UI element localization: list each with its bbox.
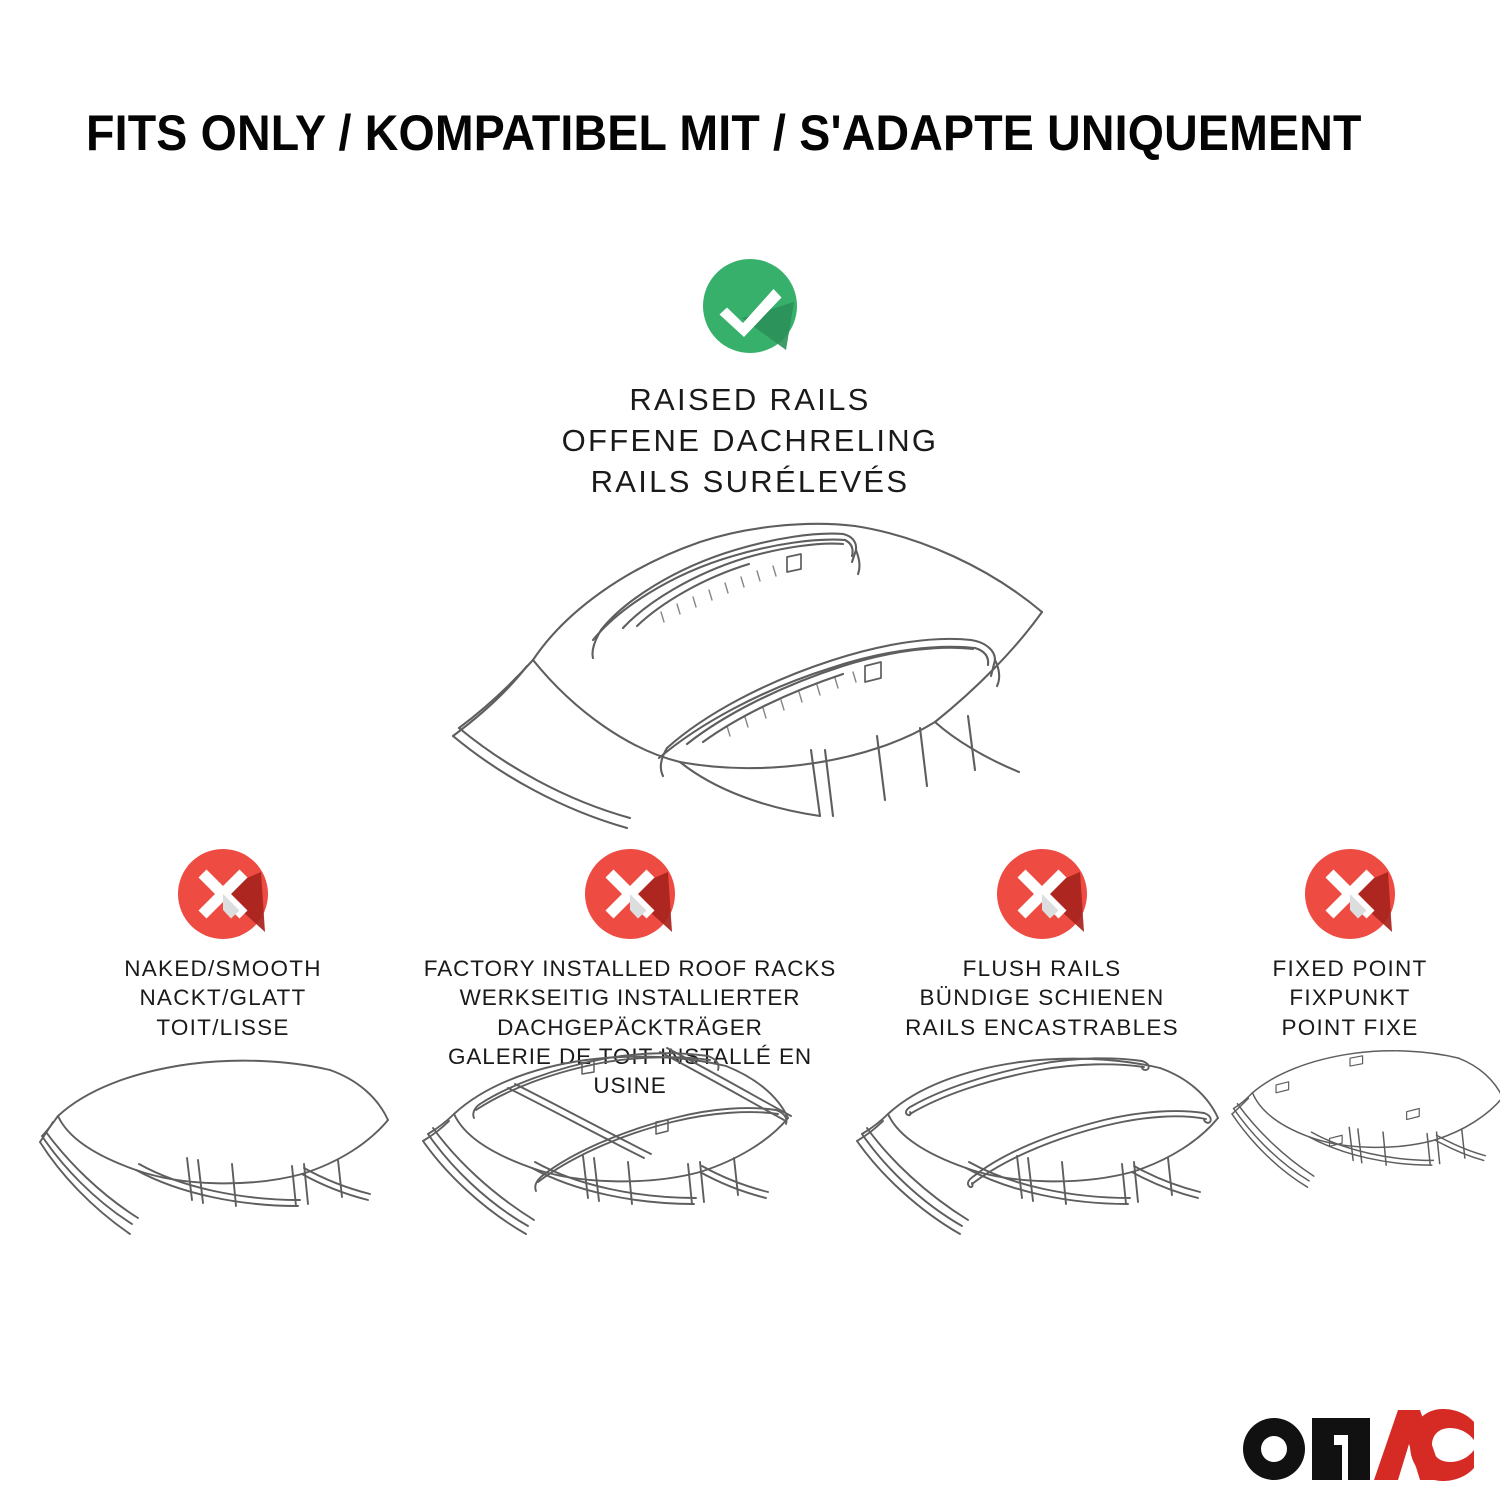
rejected-label-en: FLUSH RAILS bbox=[905, 954, 1179, 983]
omac-logo bbox=[1238, 1408, 1474, 1482]
x-circle-icon bbox=[584, 848, 676, 940]
rejected-labels: FLUSH RAILS BÜNDIGE SCHIENEN RAILS ENCAS… bbox=[905, 954, 1179, 1042]
rejected-item-flush-rails: FLUSH RAILS BÜNDIGE SCHIENEN RAILS ENCAS… bbox=[856, 848, 1228, 1042]
car-roof-naked-smooth-illustration bbox=[40, 1054, 406, 1284]
rejected-section: NAKED/SMOOTH NACKT/GLATT TOIT/LISSE bbox=[0, 848, 1500, 1498]
rejected-labels: FIXED POINT FIXPUNKT POINT FIXE bbox=[1272, 954, 1427, 1042]
x-circle-icon bbox=[177, 848, 269, 940]
car-roof-factory-roof-rack-illustration bbox=[412, 1036, 848, 1286]
logo-letter-m bbox=[1312, 1418, 1370, 1480]
rejected-label-en: NAKED/SMOOTH bbox=[124, 954, 322, 983]
check-circle-icon bbox=[702, 258, 798, 354]
x-circle-icon bbox=[1304, 848, 1396, 940]
rejected-item-naked-smooth: NAKED/SMOOTH NACKT/GLATT TOIT/LISSE bbox=[40, 848, 406, 1042]
logo-letter-o bbox=[1243, 1418, 1305, 1480]
approved-label-de: OFFENE DACHRELING bbox=[562, 421, 939, 462]
approved-label-en: RAISED RAILS bbox=[562, 380, 939, 421]
logo-letter-c bbox=[1410, 1409, 1474, 1481]
page-title: FITS ONLY / KOMPATIBEL MIT / S'ADAPTE UN… bbox=[86, 108, 1332, 158]
rejected-label-de: BÜNDIGE SCHIENEN bbox=[905, 983, 1179, 1012]
rejected-label-de-1: WERKSEITIG INSTALLIERTER bbox=[412, 983, 848, 1012]
rejected-label-en: FIXED POINT bbox=[1272, 954, 1427, 983]
approved-labels: RAISED RAILS OFFENE DACHRELING RAILS SUR… bbox=[562, 380, 939, 503]
rejected-label-de: FIXPUNKT bbox=[1272, 983, 1427, 1012]
rejected-label-de: NACKT/GLATT bbox=[124, 983, 322, 1012]
car-roof-flush-rails-illustration bbox=[856, 1044, 1228, 1279]
rejected-label-fr: POINT FIXE bbox=[1272, 1013, 1427, 1042]
approved-label-fr: RAILS SURÉLEVÉS bbox=[562, 462, 939, 503]
rejected-item-factory-roof-racks: FACTORY INSTALLED ROOF RACKS WERKSEITIG … bbox=[412, 848, 848, 1100]
rejected-label-en: FACTORY INSTALLED ROOF RACKS bbox=[412, 954, 848, 983]
rejected-labels: NAKED/SMOOTH NACKT/GLATT TOIT/LISSE bbox=[124, 954, 322, 1042]
rejected-label-fr: RAILS ENCASTRABLES bbox=[905, 1013, 1179, 1042]
fitment-chart-page: FITS ONLY / KOMPATIBEL MIT / S'ADAPTE UN… bbox=[0, 0, 1500, 1500]
car-roof-fixed-point-illustration bbox=[1232, 1044, 1468, 1279]
approved-section: RAISED RAILS OFFENE DACHRELING RAILS SUR… bbox=[0, 258, 1500, 503]
car-roof-raised-rails-illustration bbox=[415, 500, 1105, 840]
x-circle-icon bbox=[996, 848, 1088, 940]
rejected-label-fr: TOIT/LISSE bbox=[124, 1013, 322, 1042]
rejected-item-fixed-point: FIXED POINT FIXPUNKT POINT FIXE bbox=[1232, 848, 1468, 1042]
